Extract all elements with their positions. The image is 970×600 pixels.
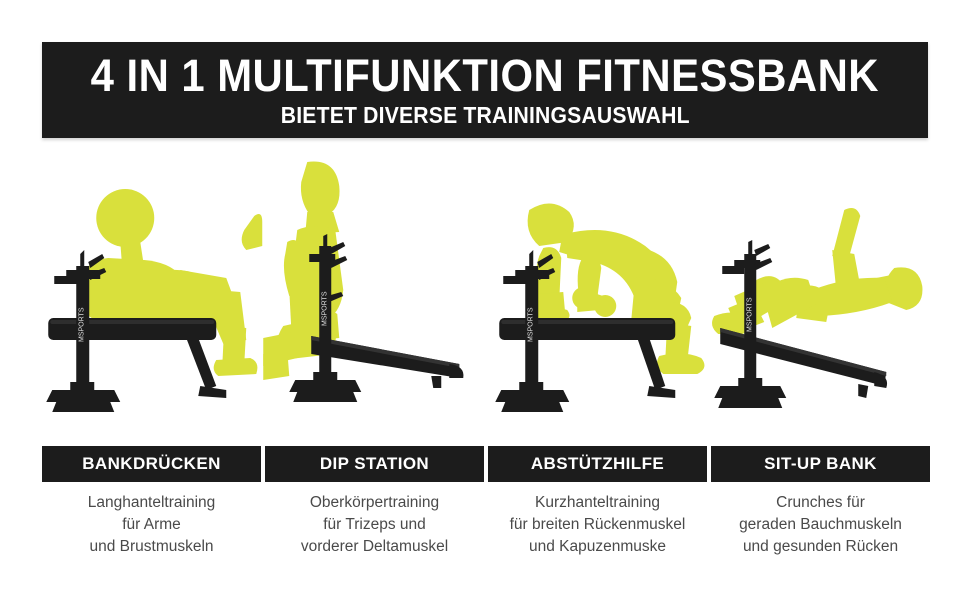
label-text: ABSTÜTZHILFE — [531, 454, 664, 474]
label-cell-abstuetzhilfe: ABSTÜTZHILFE — [488, 446, 707, 482]
description-line: für Arme — [42, 514, 261, 536]
category-label-strip: BANKDRÜCKEN DIP STATION ABSTÜTZHILFE SIT… — [42, 446, 930, 482]
label-cell-dip-station: DIP STATION — [265, 446, 484, 482]
sit-up-silhouette-icon: MSPORTS — [712, 208, 922, 408]
description-line: und Brustmuskeln — [42, 536, 261, 558]
illustration-row: MSPORTS — [40, 150, 930, 435]
description-bankdruecken: Langhanteltraining für Arme und Brustmus… — [42, 492, 261, 558]
svg-text:MSPORTS: MSPORTS — [527, 307, 534, 342]
description-line: und Kapuzenmuske — [488, 536, 707, 558]
figure-foot-detail — [242, 214, 263, 250]
illustration-abstuetzhilfe: MSPORTS — [485, 150, 708, 435]
illustration-bankdruecken: MSPORTS — [40, 150, 263, 435]
illustration-dip-station: MSPORTS — [263, 150, 486, 435]
label-cell-bankdruecken: BANKDRÜCKEN — [42, 446, 261, 482]
description-row: Langhanteltraining für Arme und Brustmus… — [42, 492, 930, 558]
page-title: 4 IN 1 MULTIFUNKTION FITNESSBANK — [91, 52, 879, 100]
header-banner: 4 IN 1 MULTIFUNKTION FITNESSBANK BIETET … — [42, 42, 928, 138]
label-text: BANKDRÜCKEN — [82, 454, 221, 474]
description-line: Langhanteltraining — [42, 492, 261, 514]
description-abstuetzhilfe: Kurzhanteltraining für breiten Rückenmus… — [488, 492, 707, 558]
description-line: für Trizeps und — [265, 514, 484, 536]
svg-text:MSPORTS: MSPORTS — [78, 307, 85, 342]
svg-text:MSPORTS: MSPORTS — [321, 291, 328, 326]
description-sit-up-bank: Crunches für geraden Bauchmuskeln und ge… — [711, 492, 930, 558]
description-line: Crunches für — [711, 492, 930, 514]
dumbbell-row-silhouette-icon: MSPORTS — [495, 203, 704, 412]
description-line: und gesunden Rücken — [711, 536, 930, 558]
description-line: für breiten Rückenmuskel — [488, 514, 707, 536]
description-dip-station: Oberkörpertraining für Trizeps und vorde… — [265, 492, 484, 558]
description-line: Oberkörpertraining — [265, 492, 484, 514]
label-text: DIP STATION — [320, 454, 429, 474]
page-subtitle: BIETET DIVERSE TRAININGSAUSWAHL — [281, 102, 690, 128]
svg-text:MSPORTS: MSPORTS — [746, 297, 753, 332]
illustration-sit-up-bank: MSPORTS — [708, 150, 931, 435]
description-line: geraden Bauchmuskeln — [711, 514, 930, 536]
description-line: Kurzhanteltraining — [488, 492, 707, 514]
label-cell-sit-up-bank: SIT-UP BANK — [711, 446, 930, 482]
dip-station-silhouette-icon: MSPORTS — [263, 162, 463, 403]
description-line: vorderer Deltamuskel — [265, 536, 484, 558]
label-text: SIT-UP BANK — [764, 454, 877, 474]
bench-press-silhouette-icon: MSPORTS — [46, 189, 262, 412]
